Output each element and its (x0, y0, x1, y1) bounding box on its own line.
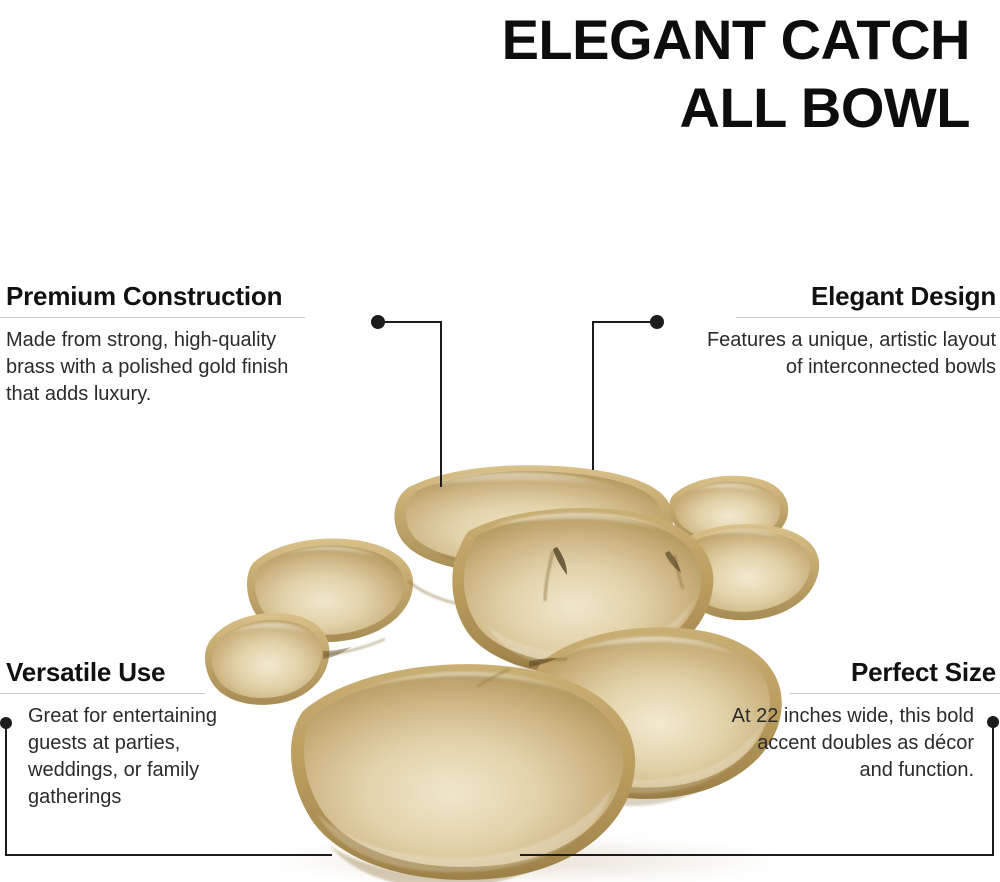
callout-heading-versatile-use: Versatile Use (0, 657, 300, 687)
title-line-1: ELEGANT CATCH (502, 8, 970, 71)
callout-versatile-use: Versatile Use Great for entertaining gue… (0, 657, 300, 811)
callout-divider-perfect-size (790, 693, 1000, 694)
callout-perfect-size: Perfect Size At 22 inches wide, this bol… (710, 657, 1000, 784)
callout-body-premium-construction: Made from strong, high-quality brass wit… (0, 327, 306, 408)
callout-body-versatile-use: Great for entertaining guests at parties… (0, 703, 268, 811)
infographic-canvas: ELEGANT CATCH ALL BOWL (0, 0, 1000, 882)
title-line-2: ALL BOWL (250, 74, 970, 142)
elegant-design-leader (593, 322, 657, 470)
page-title: ELEGANT CATCH ALL BOWL (250, 6, 970, 142)
bowl-front-large-plate (291, 664, 635, 882)
callout-body-elegant-design: Features a unique, artistic layout of in… (700, 327, 1000, 381)
callout-divider-versatile-use (0, 693, 205, 694)
callout-heading-elegant-design: Elegant Design (700, 281, 1000, 311)
premium-construction-leader-dot (371, 315, 385, 329)
callout-elegant-design: Elegant Design Features a unique, artist… (700, 281, 1000, 381)
callout-premium-construction: Premium Construction Made from strong, h… (0, 281, 345, 408)
callout-body-perfect-size: At 22 inches wide, this bold accent doub… (724, 703, 1000, 784)
callout-divider-premium-construction (0, 317, 305, 318)
callout-heading-perfect-size: Perfect Size (710, 657, 1000, 687)
callout-divider-elegant-design (736, 317, 1000, 318)
elegant-design-leader-dot (650, 315, 664, 329)
callout-heading-premium-construction: Premium Construction (0, 281, 345, 311)
